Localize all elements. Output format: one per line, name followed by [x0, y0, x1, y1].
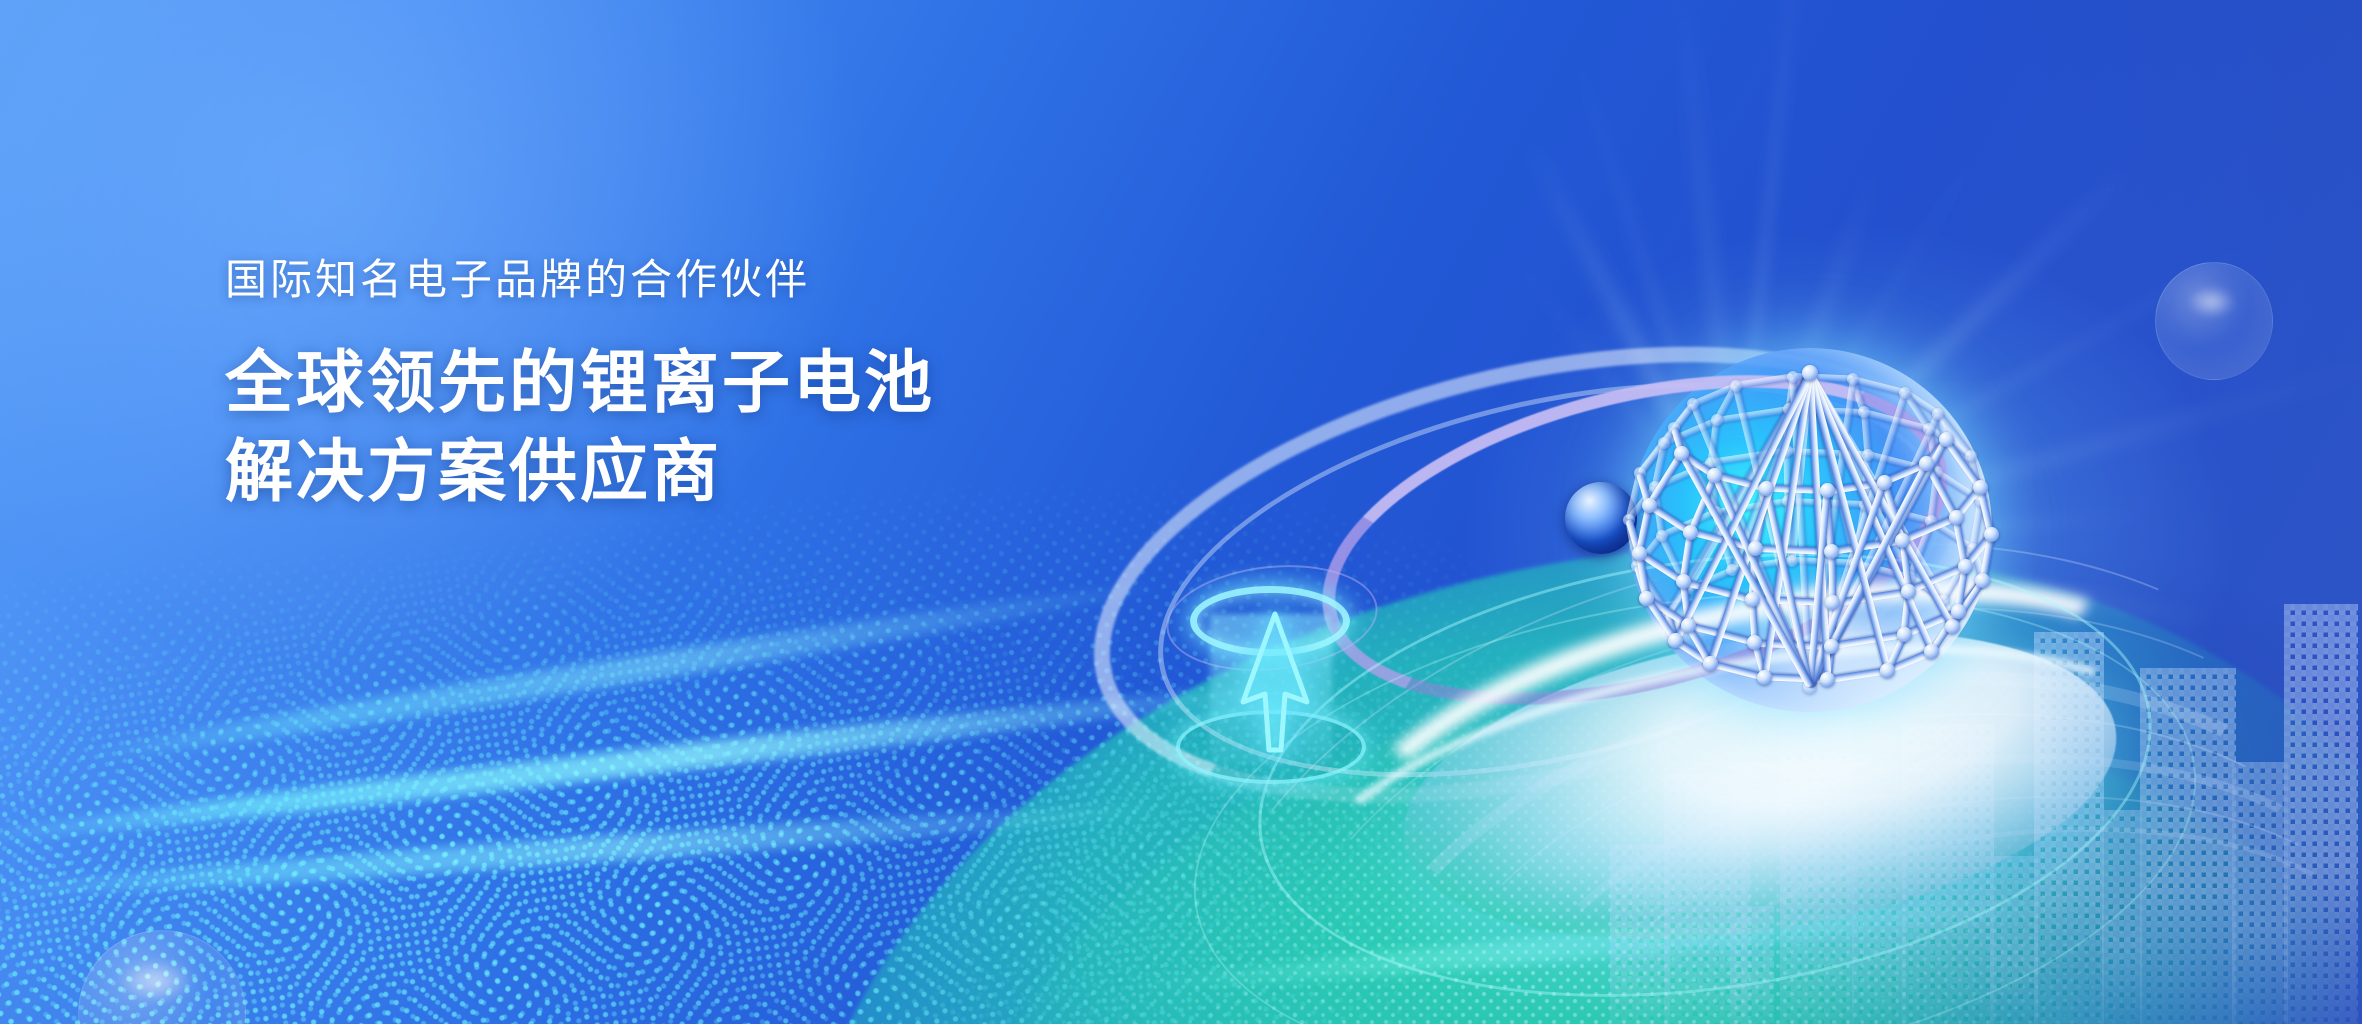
globe-node	[1877, 475, 1892, 490]
hero-banner: 国际知名电子品牌的合作伙伴 全球领先的锂离子电池 解决方案供应商	[0, 0, 2362, 1024]
globe-node	[1949, 510, 1964, 525]
globe-node	[1965, 450, 1977, 462]
portal-ring-icon	[1170, 570, 1390, 790]
globe-node	[1759, 481, 1774, 496]
globe-node	[1939, 432, 1954, 447]
globe-node	[1945, 619, 1960, 634]
cursor-arrow-icon	[1236, 608, 1314, 758]
globe-node	[1730, 380, 1742, 392]
wave-crest-3	[65, 574, 1156, 772]
banner-headline-line-2: 解决方案供应商	[225, 428, 935, 516]
globe-node	[1676, 574, 1691, 589]
hero-copy: 国际知名电子品牌的合作伙伴 全球领先的锂离子电池 解决方案供应商	[225, 255, 935, 516]
city-tower	[2284, 604, 2358, 1024]
bubble-highlight	[118, 958, 194, 1004]
banner-headline-line-1: 全球领先的锂离子电池	[225, 339, 935, 427]
bubble-highlight	[2188, 286, 2236, 318]
globe-node	[1757, 670, 1772, 685]
globe-node	[1642, 498, 1657, 513]
globe-node	[1658, 437, 1670, 449]
globe-node	[1951, 604, 1966, 619]
globe-node	[1862, 449, 1874, 461]
globe-node	[1703, 656, 1718, 671]
globe-node	[1786, 555, 1798, 567]
globe-node	[1745, 592, 1760, 607]
city-tower	[2232, 762, 2288, 1024]
globe-node	[1787, 371, 1799, 383]
banner-subtitle: 国际知名电子品牌的合作伙伴	[225, 255, 935, 305]
globe-node	[1632, 546, 1647, 561]
globe-node	[1984, 527, 1999, 542]
globe-node	[1683, 525, 1698, 540]
globe-node	[1656, 530, 1668, 542]
globe-node	[1824, 639, 1839, 654]
globe-node	[1707, 468, 1722, 483]
globe-node	[1973, 480, 1988, 495]
globe-node	[1820, 483, 1835, 498]
